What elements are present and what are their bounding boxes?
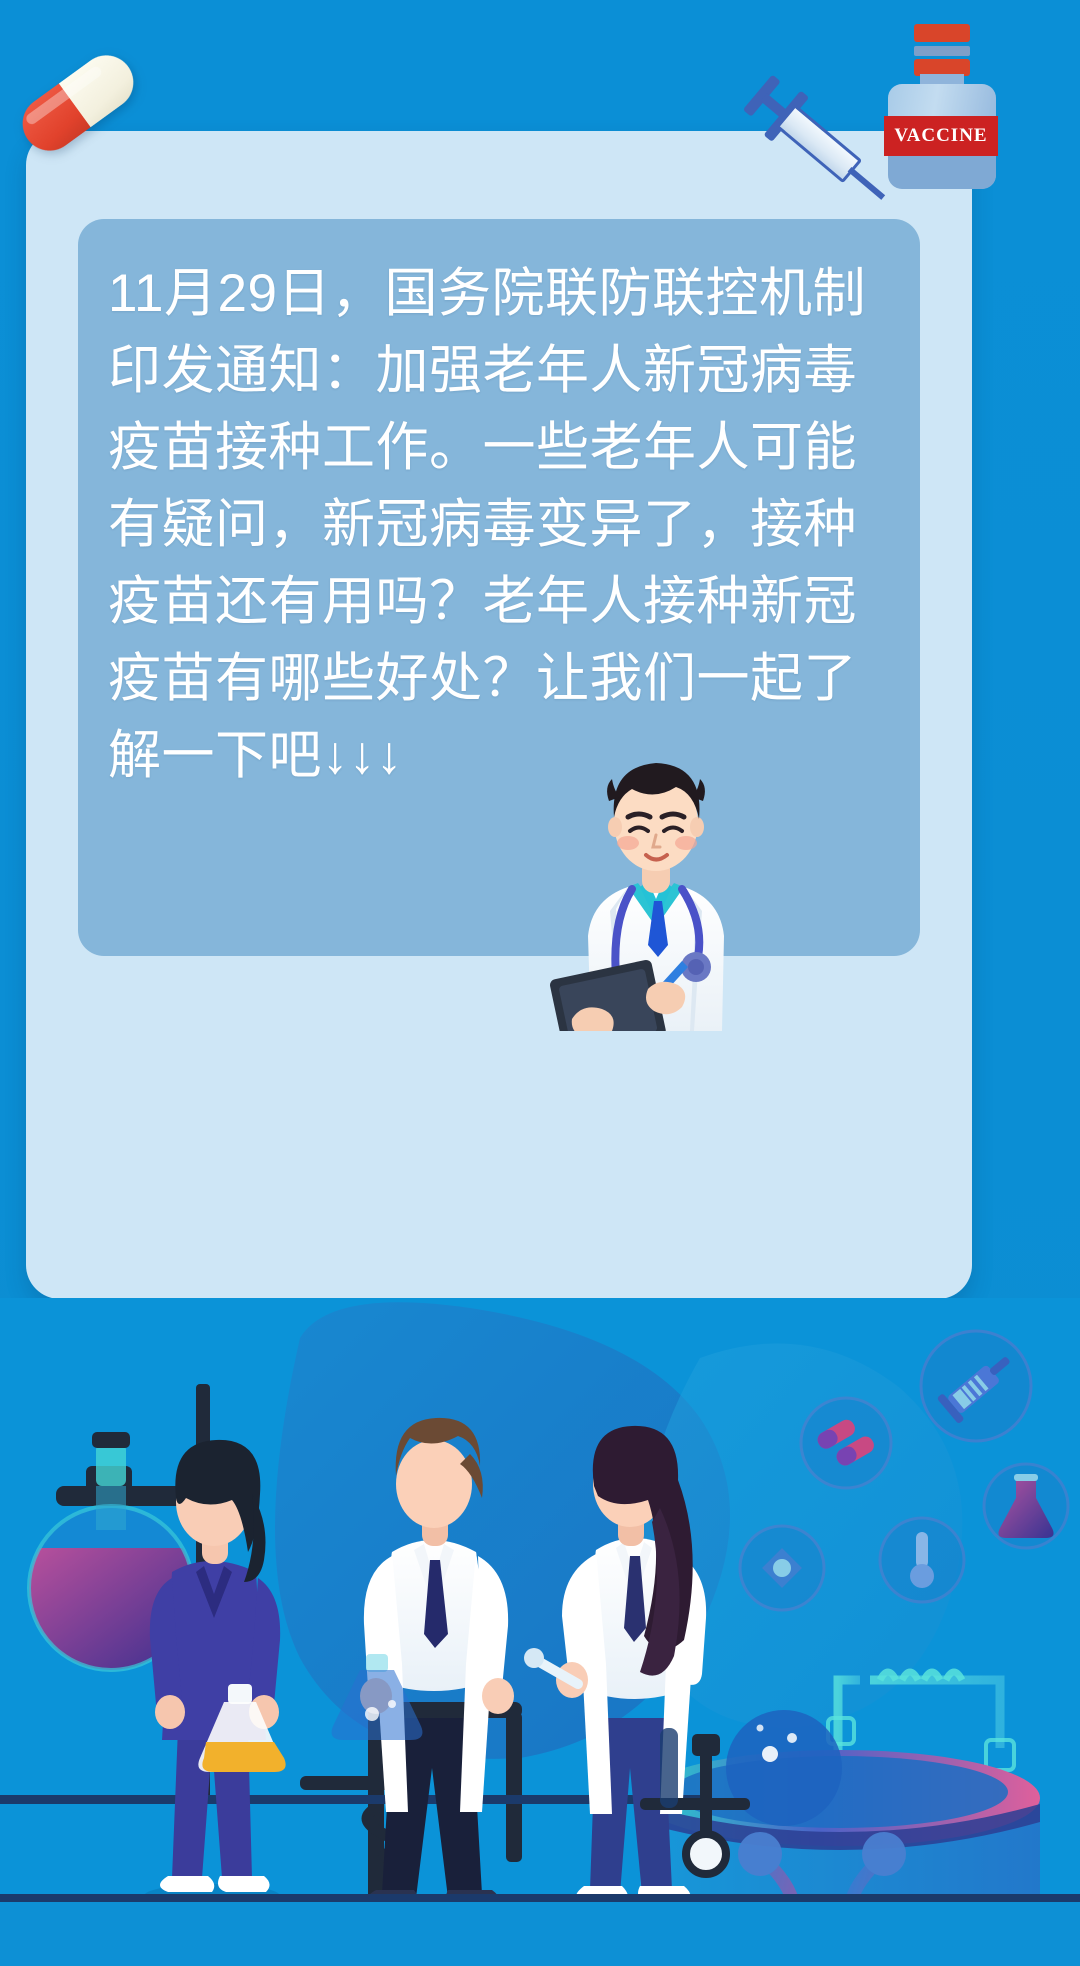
vaccine-graphic: VACCINE (790, 14, 1050, 199)
poster-root: 11月29日，国务院联防联控机制印发通知：加强老年人新冠病毒疫苗接种工作。一些老… (0, 0, 1080, 1966)
vial-label-text: VACCINE (894, 125, 987, 147)
headline-panel: 11月29日，国务院联防联控机制印发通知：加强老年人新冠病毒疫苗接种工作。一些老… (78, 219, 920, 956)
content-card: 11月29日，国务院联防联控机制印发通知：加强老年人新冠病毒疫苗接种工作。一些老… (26, 131, 972, 1299)
syringe-needle (848, 167, 886, 200)
vial-cap-mid (914, 46, 970, 56)
hero-section: 11月29日，国务院联防联控机制印发通知：加强老年人新冠病毒疫苗接种工作。一些老… (0, 0, 1080, 1300)
laboratory-scene-illustration (0, 1298, 1080, 1966)
vial-label: VACCINE (884, 116, 998, 156)
headline-text: 11月29日，国务院联防联控机制印发通知：加强老年人新冠病毒疫苗接种工作。一些老… (108, 255, 890, 794)
doctor-illustration (536, 731, 776, 1031)
vial-cap-top (914, 24, 970, 42)
vaccine-vial-icon: VACCINE (886, 24, 998, 192)
